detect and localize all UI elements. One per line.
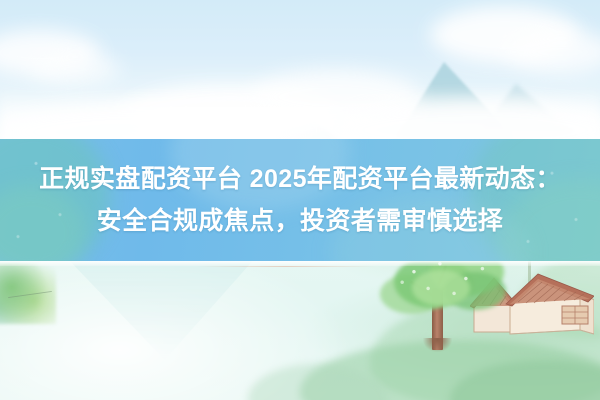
- headline-line-2: 安全合规成焦点，投资者需审慎选择: [97, 201, 503, 241]
- horizon-accent-line: [196, 266, 376, 267]
- cloud-icon: [30, 52, 120, 86]
- hero-banner: 正规实盘配资平台 2025年配资平台最新动态： 安全合规成焦点，投资者需审慎选择: [0, 0, 600, 400]
- left-foliage-tuft: [0, 262, 56, 324]
- band-underline: [0, 261, 600, 266]
- headline-text: 正规实盘配资平台 2025年配资平台最新动态： 安全合规成焦点，投资者需审慎选择: [0, 139, 600, 261]
- headline-line-1: 正规实盘配资平台 2025年配资平台最新动态：: [39, 159, 561, 199]
